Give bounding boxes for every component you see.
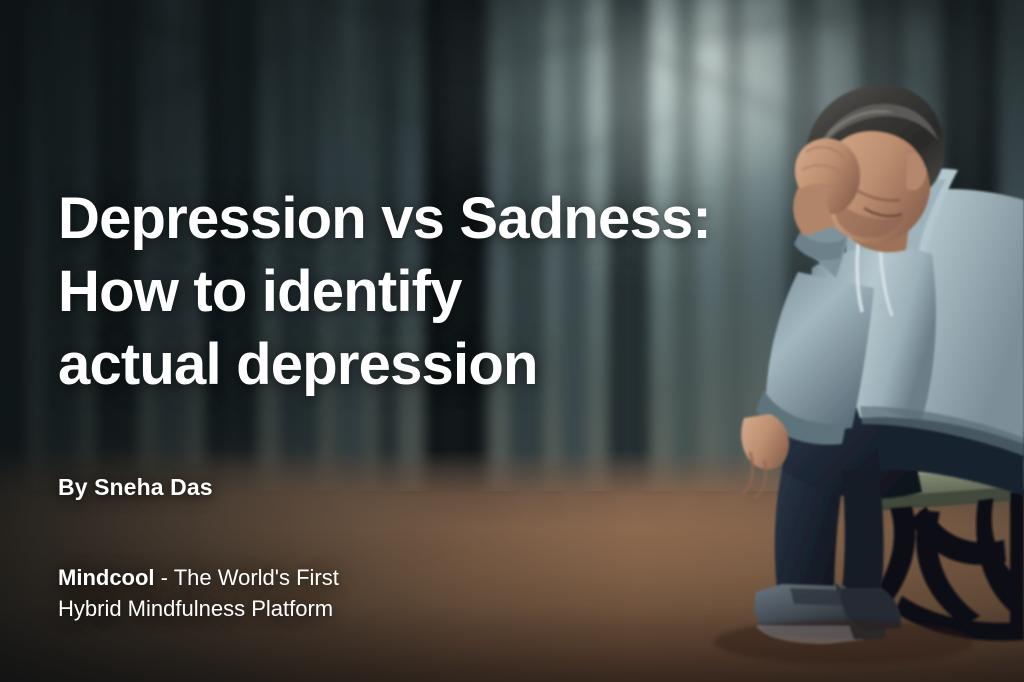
man-on-bench-photo-subject	[694, 0, 1024, 682]
blog-header-banner: Depression vs Sadness: How to identify a…	[0, 0, 1024, 682]
